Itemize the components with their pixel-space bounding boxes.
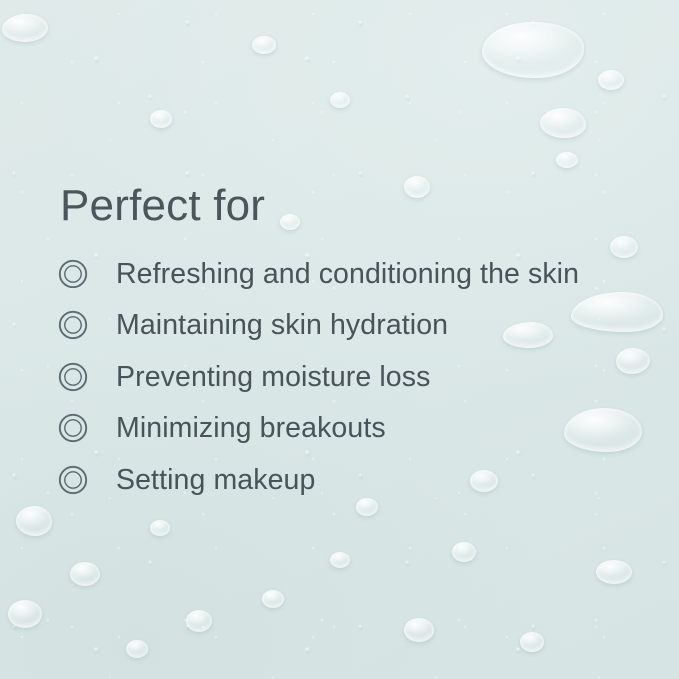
double-circle-icon xyxy=(58,465,88,495)
double-circle-icon xyxy=(58,362,88,392)
benefits-list: Refreshing and conditioning the skin Mai… xyxy=(58,248,579,506)
double-circle-icon xyxy=(58,259,88,289)
list-item: Minimizing breakouts xyxy=(58,403,579,455)
list-item-label: Preventing moisture loss xyxy=(116,363,430,392)
list-item-label: Setting makeup xyxy=(116,466,315,495)
list-item: Setting makeup xyxy=(58,454,579,506)
list-item-label: Refreshing and conditioning the skin xyxy=(116,260,579,289)
page-title: Perfect for xyxy=(60,184,265,228)
list-item-label: Minimizing breakouts xyxy=(116,414,386,443)
list-item: Preventing moisture loss xyxy=(58,351,579,403)
product-benefits-card: Perfect for Refreshing and conditioning … xyxy=(0,0,679,679)
double-circle-icon xyxy=(58,413,88,443)
list-item-label: Maintaining skin hydration xyxy=(116,311,448,340)
content-layer: Perfect for Refreshing and conditioning … xyxy=(0,0,679,679)
double-circle-icon xyxy=(58,310,88,340)
list-item: Refreshing and conditioning the skin xyxy=(58,248,579,300)
list-item: Maintaining skin hydration xyxy=(58,300,579,352)
